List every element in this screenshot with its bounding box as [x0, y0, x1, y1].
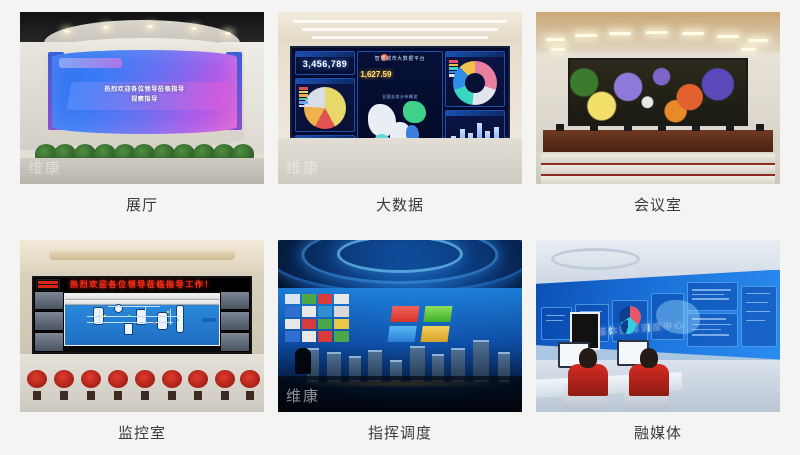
person-silhouette	[295, 348, 311, 374]
caption-monitoring-room: 监控室	[118, 426, 166, 441]
camera-tile[interactable]	[34, 311, 64, 331]
led-video-wall[interactable]: 3,456,789	[290, 46, 510, 138]
led-screen[interactable]	[568, 58, 749, 126]
photo-exhibition-hall[interactable]: 热烈欢迎各位领导莅临指导 视察指导 维康	[20, 12, 264, 184]
caption-big-data: 大数据	[376, 198, 424, 213]
wall-card	[741, 286, 777, 347]
gallery-item-exhibition-hall[interactable]: 热烈欢迎各位领导莅临指导 视察指导 维康 展厅	[20, 12, 264, 228]
caption-exhibition-hall: 展厅	[126, 198, 158, 213]
camera-grid-left[interactable]	[34, 291, 64, 352]
kpi-value: 3,456,789	[296, 57, 354, 69]
spot-light-icon	[64, 30, 70, 33]
secondary-kpi: 1,627.59	[360, 70, 391, 79]
gallery-item-conference-room[interactable]: 会议室	[536, 12, 780, 228]
kpi-card: 3,456,789	[295, 51, 355, 75]
camera-grid-right[interactable]	[220, 291, 250, 352]
pie-chart	[304, 87, 346, 129]
caption-conference-room: 会议室	[634, 198, 682, 213]
gallery-item-monitoring-room[interactable]: 热烈欢迎各位领导莅临指导工作！	[20, 240, 264, 455]
caption-converged-media: 融媒体	[634, 426, 682, 441]
camera-tile[interactable]	[34, 332, 64, 352]
spot-light-icon	[147, 25, 153, 28]
scada-diagram[interactable]	[64, 293, 219, 346]
donut-chart-card	[445, 51, 505, 107]
dashboard-title: 智慧城市大数据平台	[358, 55, 442, 62]
foreground-shadow	[278, 376, 522, 412]
donut-chart	[453, 61, 497, 105]
spot-light-icon	[103, 26, 109, 29]
presidium-desk	[543, 130, 772, 152]
gallery-item-command-dispatch[interactable]: 维康 指挥调度	[278, 240, 522, 455]
spot-light-icon	[191, 27, 197, 30]
floor	[278, 138, 522, 184]
caption-command-dispatch: 指挥调度	[368, 426, 432, 441]
camera-tile[interactable]	[34, 291, 64, 311]
operator	[629, 350, 669, 396]
ceiling-beam	[49, 250, 234, 260]
screen-welcome-text: 热烈欢迎各位领导莅临指导 视察指导	[52, 85, 237, 104]
photo-converged-media[interactable]: 融媒体指挥调度中心	[536, 240, 780, 412]
welcome-banner: 热烈欢迎各位领导莅临指导工作！	[34, 278, 250, 291]
photo-monitoring-room[interactable]: 热烈欢迎各位领导莅临指导工作！	[20, 240, 264, 412]
screen-header-strip	[59, 58, 122, 67]
pie-chart-card	[295, 78, 355, 132]
camera-tile[interactable]	[220, 291, 250, 311]
video-wall[interactable]: 热烈欢迎各位领导莅临指导工作！	[32, 276, 252, 354]
led-screen[interactable]: 热烈欢迎各位领导莅临指导 视察指导	[52, 50, 237, 134]
photo-big-data[interactable]: 3,456,789	[278, 12, 522, 184]
wall-card	[541, 307, 572, 340]
gallery-item-big-data[interactable]: 3,456,789	[278, 12, 522, 228]
ceiling-ring	[551, 248, 640, 270]
camera-tile[interactable]	[220, 311, 250, 331]
pie-legend	[299, 87, 308, 107]
photo-gallery: 热烈欢迎各位领导莅临指导 视察指导 维康 展厅	[0, 0, 800, 455]
app-toolbar	[65, 300, 218, 305]
banner-text: 热烈欢迎各位领导莅临指导工作！	[70, 279, 214, 290]
audience-seating	[536, 152, 780, 184]
photo-command-dispatch[interactable]: 维康	[278, 240, 522, 412]
gallery-item-converged-media[interactable]: 融媒体指挥调度中心	[536, 240, 780, 455]
floor	[20, 158, 264, 184]
spot-light-icon	[225, 32, 231, 35]
camera-tile[interactable]	[220, 332, 250, 352]
photo-conference-room[interactable]	[536, 12, 780, 184]
ceiling	[278, 12, 522, 46]
operator	[568, 350, 608, 396]
